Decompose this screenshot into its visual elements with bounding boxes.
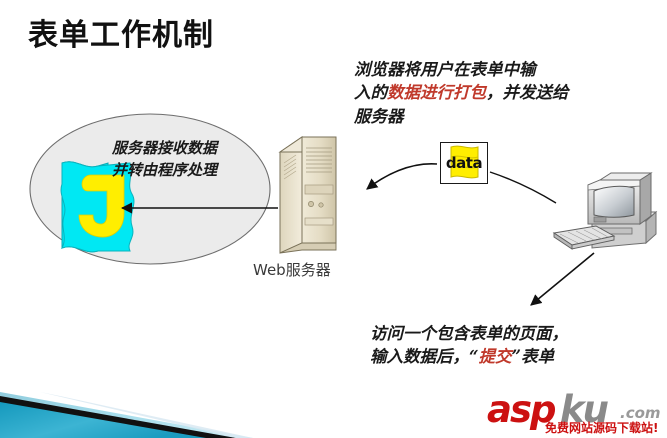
visit-note-line-1: 访问一个包含表单的页面， [370,322,568,345]
browser-note-line2-prefix: 入的 [354,83,387,102]
arrow-data-to-server [367,164,437,189]
line-client-to-data [490,172,556,203]
web-server-tower [280,137,336,253]
visit-form-note: 访问一个包含表单的页面， 输入数据后，“提交”表单 [370,322,568,369]
browser-note-line-2: 入的数据进行打包，并发送给 [354,81,569,104]
browser-package-note: 浏览器将用户在表单中输 入的数据进行打包，并发送给 服务器 [354,58,569,128]
visit-note-line2-prefix: 输入数据后，“ [370,347,479,366]
browser-note-line-3: 服务器 [354,105,569,128]
server-note-line-1: 服务器接收数据 [112,138,217,160]
web-server-label: Web服务器 [253,259,331,280]
visit-note-line2-suffix: ”表单 [512,347,555,366]
site-watermark: asp ku .com 免费网站源码下载站! [487,388,662,436]
data-packet-label: data [440,154,488,172]
server-note-line-2: 并转由程序处理 [112,160,217,182]
visit-note-highlight: 提交 [479,347,512,366]
arrow-client-to-visit-note [531,253,594,305]
visit-note-line-2: 输入数据后，“提交”表单 [370,345,568,368]
browser-note-line2-suffix: ，并发送给 [486,83,569,102]
browser-note-line-1: 浏览器将用户在表单中输 [354,58,569,81]
server-receive-note: 服务器接收数据 并转由程序处理 [112,138,217,182]
browser-note-highlight: 数据进行打包 [387,83,486,102]
watermark-tagline: 免费网站源码下载站! [545,419,658,436]
bottom-banner-decoration [0,392,253,438]
slide-canvas: 表单工作机制 [0,0,667,438]
client-computer [554,173,656,249]
